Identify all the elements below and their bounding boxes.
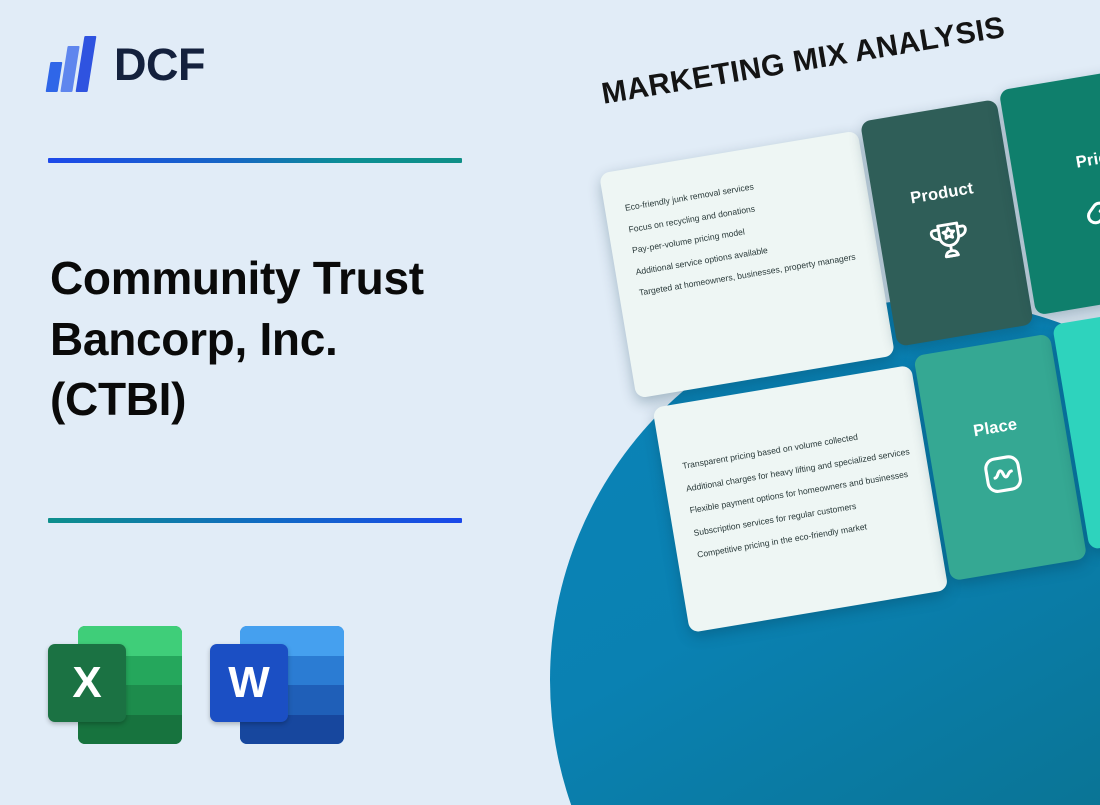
price-label: Price bbox=[1074, 147, 1100, 173]
divider-top bbox=[48, 158, 462, 163]
place-bullet-list: Transparent pricing based on volume coll… bbox=[682, 423, 935, 574]
place-label: Place bbox=[972, 415, 1019, 441]
left-pane: DCF Community Trust Bancorp, Inc. (CTBI)… bbox=[0, 0, 560, 805]
excel-badge-letter: X bbox=[48, 644, 126, 722]
poster-canvas: DCF Community Trust Bancorp, Inc. (CTBI)… bbox=[0, 0, 1100, 805]
link-icon bbox=[1078, 179, 1100, 232]
product-bullets-card: Eco-friendly junk removal services Focus… bbox=[599, 130, 895, 398]
product-label: Product bbox=[909, 179, 975, 208]
word-badge-letter: W bbox=[210, 644, 288, 722]
word-file-icon[interactable]: W bbox=[210, 622, 344, 748]
brand-logo[interactable]: DCF bbox=[48, 36, 205, 92]
download-formats: X W bbox=[48, 622, 344, 748]
title-line-2: Bancorp, Inc. bbox=[50, 309, 520, 370]
excel-file-icon[interactable]: X bbox=[48, 622, 182, 748]
place-bullets-card: Transparent pricing based on volume coll… bbox=[652, 365, 948, 633]
title-line-1: Community Trust bbox=[50, 248, 520, 309]
divider-bottom bbox=[48, 518, 462, 523]
list-item: Competitive pricing in the eco-friendly … bbox=[697, 512, 933, 560]
title-line-3: (CTBI) bbox=[50, 369, 520, 430]
product-bullet-list: Eco-friendly junk removal services Focus… bbox=[624, 165, 877, 311]
brand-name: DCF bbox=[114, 42, 205, 87]
list-item: Transparent pricing based on volume coll… bbox=[682, 423, 918, 471]
page-title: Community Trust Bancorp, Inc. (CTBI) bbox=[50, 248, 520, 430]
list-item: Targeted at homeowners, businesses, prop… bbox=[639, 250, 875, 298]
bar-chart-logo-icon bbox=[48, 36, 100, 92]
mix-panel-grid: Eco-friendly junk removal services Focus… bbox=[584, 35, 1100, 647]
trophy-icon bbox=[923, 213, 976, 266]
activity-square-icon bbox=[977, 447, 1030, 500]
marketing-mix-artwork: MARKETING MIX ANALYSIS Eco-friendly junk… bbox=[540, 0, 1100, 805]
